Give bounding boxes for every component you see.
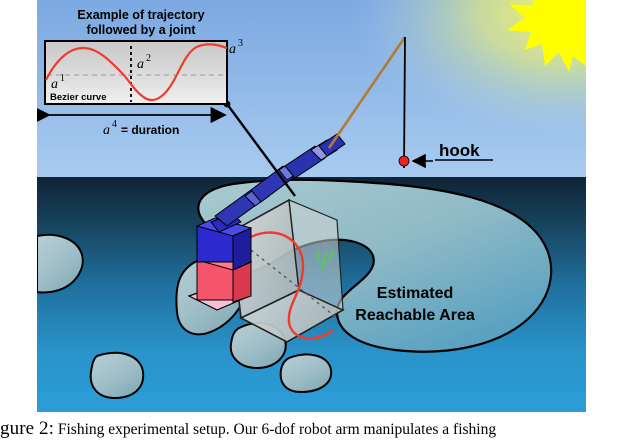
svg-text:a: a	[137, 57, 144, 72]
svg-text:3: 3	[238, 38, 243, 49]
figure-number: gure 2:	[0, 418, 54, 439]
trajectory-title-line2: followed by a joint	[86, 23, 196, 37]
hook-marker	[399, 156, 409, 166]
svg-text:1: 1	[60, 73, 65, 84]
svg-text:a: a	[51, 77, 58, 92]
hook-label: hook	[439, 141, 480, 160]
svg-text:a: a	[103, 123, 110, 138]
svg-text:2: 2	[146, 53, 151, 64]
caption-text: Fishing experimental setup. Our 6-dof ro…	[58, 421, 496, 438]
fishing-setup-figure: hook Estimated Reachable Area Example of…	[37, 0, 586, 412]
rock-small-right	[281, 354, 332, 392]
svg-text:= duration: = duration	[121, 123, 179, 137]
svg-text:4: 4	[112, 119, 117, 130]
fishing-line	[404, 37, 405, 168]
figure-page: hook Estimated Reachable Area Example of…	[0, 0, 618, 446]
reachable-area-label-line2: Reachable Area	[355, 307, 475, 324]
bezier-curve-label: Bezier curve	[50, 92, 107, 103]
rock-bottom-left	[91, 353, 144, 398]
svg-text:a: a	[229, 42, 236, 57]
trajectory-title-line1: Example of trajectory	[77, 8, 204, 22]
figure-caption: gure 2: Fishing experimental setup. Our …	[0, 416, 618, 446]
reachable-area-label-line1: Estimated	[377, 285, 453, 302]
